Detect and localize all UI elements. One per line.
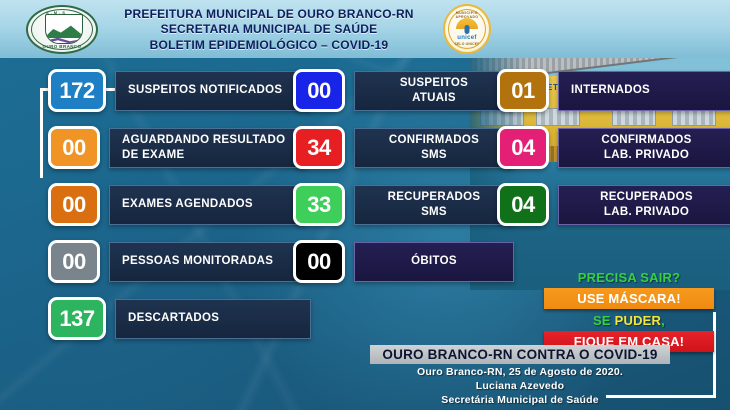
footer-campaign-banner: OURO BRANCO-RN CONTRA O COVID-19 (370, 345, 669, 364)
stat-value-badge: 00 (48, 183, 100, 226)
unicef-subtext: SELO UNICEF (445, 42, 489, 46)
stat-cell: 00SUSPEITOSATUAIS (293, 62, 514, 119)
stat-label: EXAMES AGENDADOS (109, 185, 305, 225)
advice-if-yellow: PUDER (615, 313, 662, 328)
crest-shield (45, 14, 83, 44)
stat-cell: 00EXAMES AGENDADOS (48, 176, 305, 233)
stat-value-badge: 00 (293, 240, 345, 283)
crest-hill (45, 24, 83, 38)
stat-cell: 34CONFIRMADOSSMS (293, 119, 514, 176)
stat-cell: 137DESCARTADOS (48, 290, 311, 347)
title-line-2: SECRETARIA MUNICIPAL DE SAÚDE (104, 22, 434, 37)
stat-value-badge: 01 (497, 69, 549, 112)
stat-cell: 00PESSOAS MONITORADAS (48, 233, 305, 290)
stat-value-badge: 33 (293, 183, 345, 226)
stat-label: AGUARDANDO RESULTADODE EXAME (109, 128, 305, 168)
stat-label: SUSPEITOS NOTIFICADOS (115, 71, 311, 111)
title-line-1: PREFEITURA MUNICIPAL DE OURO BRANCO-RN (104, 7, 434, 22)
stat-label: SUSPEITOSATUAIS (354, 71, 514, 111)
poster-header: S.M.S OURO BRANCO PREFEITURA MUNICIPAL D… (0, 0, 730, 58)
unicef-wordmark: unicef (445, 35, 489, 41)
stat-cell: 00AGUARDANDO RESULTADODE EXAME (48, 119, 305, 176)
stat-label: CONFIRMADOSLAB. PRIVADO (558, 128, 730, 168)
advice-if-green: SE (593, 313, 615, 328)
footer-author: Luciana Azevedo (330, 380, 710, 392)
covid-bulletin-poster: SUS SECRETARIA MUNICIPAL DE SAÚDE OURO B… (0, 0, 730, 410)
stat-label: ÓBITOS (354, 242, 514, 282)
stat-label: CONFIRMADOSSMS (354, 128, 514, 168)
stat-value-badge: 34 (293, 126, 345, 169)
stat-value-badge: 04 (497, 126, 549, 169)
stat-value-badge: 04 (497, 183, 549, 226)
poster-footer: OURO BRANCO-RN CONTRA O COVID-19 Ouro Br… (330, 345, 710, 406)
crest-top-text: S.M.S (46, 10, 67, 15)
advice-if-green2: , (661, 313, 665, 328)
title-line-3: BOLETIM EPIDEMIOLÓGICO – COVID-19 (104, 38, 434, 53)
footer-place-date: Ouro Branco-RN, 25 de Agosto de 2020. (330, 366, 710, 378)
stat-cell: 33RECUPERADOSSMS (293, 176, 514, 233)
crest-bottom-text: OURO BRANCO (28, 44, 96, 49)
stat-cell: 172SUSPEITOS NOTIFICADOS (48, 62, 311, 119)
prevention-advice-block: PRECISA SAIR? USE MÁSCARA! SE PUDER, FIQ… (544, 270, 714, 352)
unicef-seal-icon: MUNICÍPIO APROVADO unicef SELO UNICEF (443, 4, 491, 54)
stat-value-badge: 137 (48, 297, 106, 340)
stat-value-badge: 172 (48, 69, 106, 112)
stat-label: RECUPERADOSLAB. PRIVADO (558, 185, 730, 225)
advice-use-mask-banner: USE MÁSCARA! (544, 288, 714, 309)
municipality-crest-icon: S.M.S OURO BRANCO (26, 5, 98, 54)
stat-cell: 00ÓBITOS (293, 233, 514, 290)
page-title: PREFEITURA MUNICIPAL DE OURO BRANCO-RN S… (104, 7, 434, 53)
stat-row: 00AGUARDANDO RESULTADODE EXAME34CONFIRMA… (0, 119, 730, 176)
advice-if-you-can: SE PUDER, (544, 313, 714, 328)
advice-question: PRECISA SAIR? (544, 270, 714, 285)
stat-label: RECUPERADOSSMS (354, 185, 514, 225)
footer-author-role: Secretária Municipal de Saúde (330, 394, 710, 406)
stat-value-badge: 00 (48, 126, 100, 169)
stat-cell: 04RECUPERADOSLAB. PRIVADO (497, 176, 730, 233)
stat-label: INTERNADOS (558, 71, 730, 111)
stat-label: PESSOAS MONITORADAS (109, 242, 305, 282)
unicef-figure (465, 25, 470, 34)
stat-row: 172SUSPEITOS NOTIFICADOS00SUSPEITOSATUAI… (0, 62, 730, 119)
stat-label: DESCARTADOS (115, 299, 311, 339)
stat-cell: 04CONFIRMADOSLAB. PRIVADO (497, 119, 730, 176)
stat-value-badge: 00 (293, 69, 345, 112)
stat-row: 00EXAMES AGENDADOS33RECUPERADOSSMS04RECU… (0, 176, 730, 233)
stat-value-badge: 00 (48, 240, 100, 283)
stat-cell: 01INTERNADOS (497, 62, 730, 119)
